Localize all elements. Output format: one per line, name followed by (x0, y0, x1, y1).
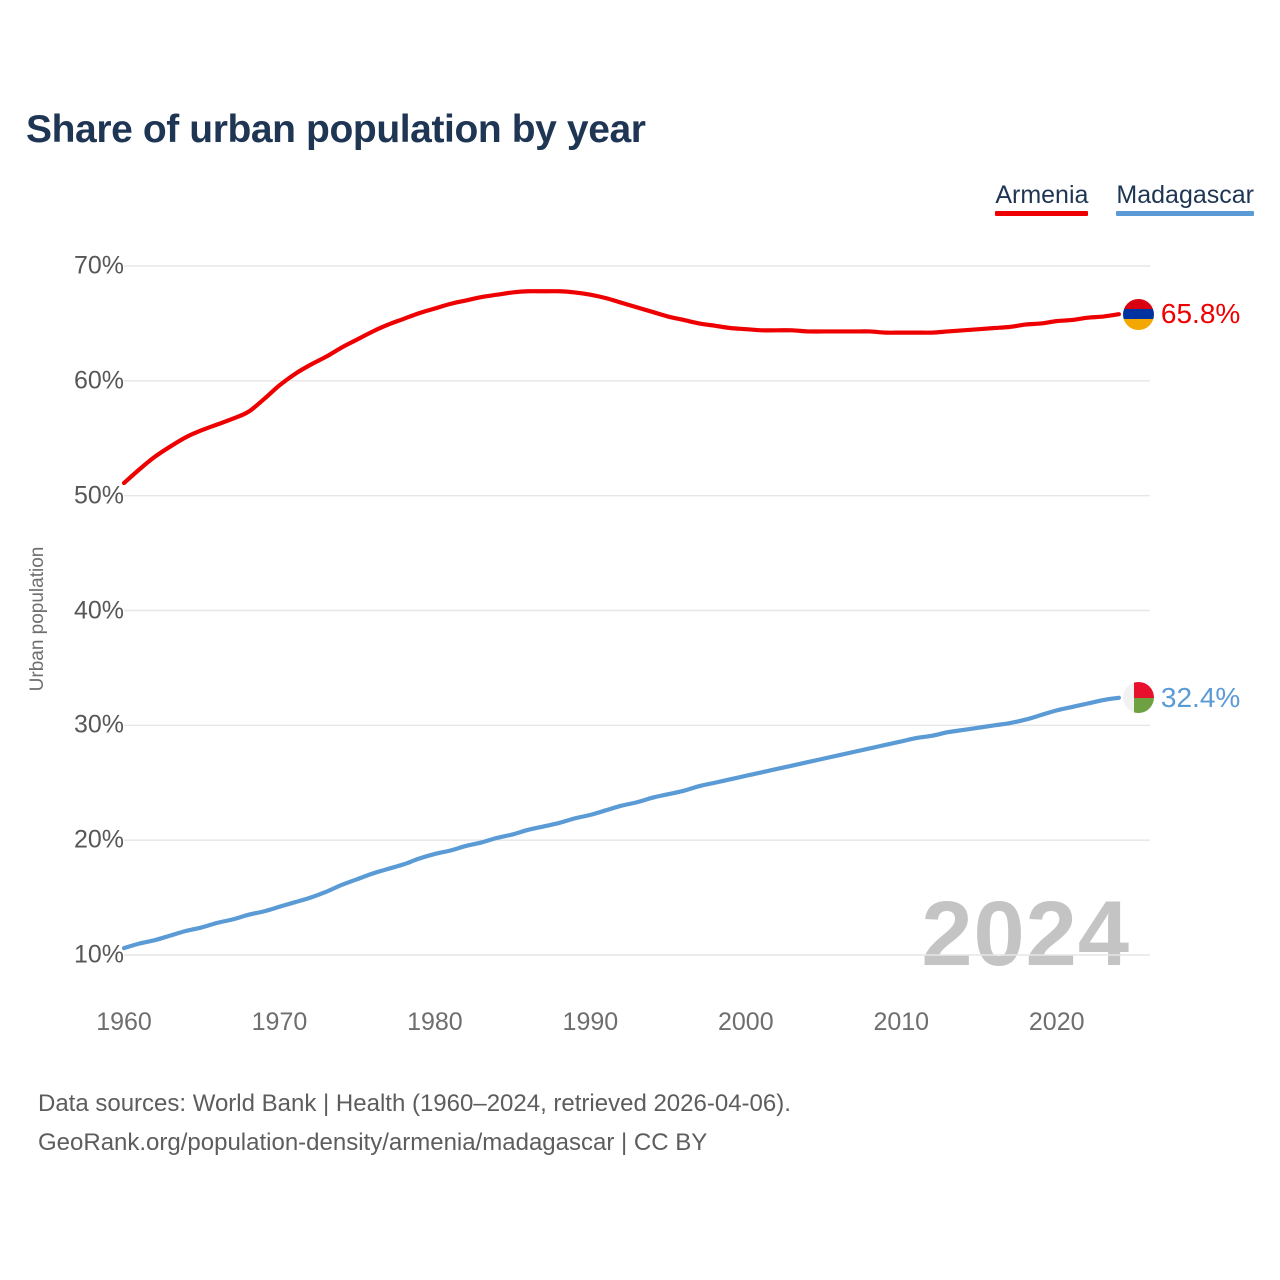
x-axis-tick-label: 2010 (873, 1008, 929, 1037)
x-axis-tick-label: 1990 (563, 1008, 619, 1037)
footer: Data sources: World Bank | Health (1960–… (38, 1085, 791, 1163)
x-axis-tick-label: 1980 (407, 1008, 463, 1037)
chart-legend: Armenia Madagascar (995, 182, 1254, 216)
x-axis-tick-label: 2020 (1029, 1008, 1085, 1037)
legend-item-armenia[interactable]: Armenia (995, 182, 1088, 216)
x-axis-tick-label: 1960 (96, 1008, 152, 1037)
footer-line-url[interactable]: GeoRank.org/population-density/armenia/m… (38, 1124, 791, 1163)
armenia-flag-icon (1123, 299, 1154, 330)
madagascar-endpoint[interactable]: 32.4% (1123, 682, 1240, 714)
legend-label-madagascar: Madagascar (1116, 182, 1254, 208)
y-axis-tick-label: 50% (4, 481, 124, 510)
footer-line-sources: Data sources: World Bank | Health (1960–… (38, 1085, 791, 1124)
y-axis-tick-label: 20% (4, 826, 124, 855)
y-axis-tick-label: 30% (4, 711, 124, 740)
legend-label-armenia: Armenia (995, 182, 1088, 208)
series-lines (124, 291, 1119, 948)
y-axis-tick-label: 70% (4, 252, 124, 281)
legend-rule-madagascar (1116, 211, 1254, 216)
y-axis-tick-label: 10% (4, 941, 124, 970)
x-axis-tick-label: 2000 (718, 1008, 774, 1037)
chart-root: Share of urban population by year Armeni… (0, 0, 1280, 1280)
year-watermark: 2024 (921, 888, 1130, 980)
armenia-endpoint-value: 65.8% (1161, 298, 1240, 330)
armenia-endpoint[interactable]: 65.8% (1123, 298, 1240, 330)
legend-rule-armenia (995, 211, 1088, 216)
x-axis-tick-label: 1970 (252, 1008, 308, 1037)
legend-item-madagascar[interactable]: Madagascar (1116, 182, 1254, 216)
y-axis-tick-label: 40% (4, 596, 124, 625)
y-axis-tick-label: 60% (4, 366, 124, 395)
gridlines (124, 266, 1150, 955)
madagascar-flag-icon (1123, 682, 1154, 713)
madagascar-endpoint-value: 32.4% (1161, 682, 1240, 714)
series-line-armenia (124, 291, 1119, 483)
